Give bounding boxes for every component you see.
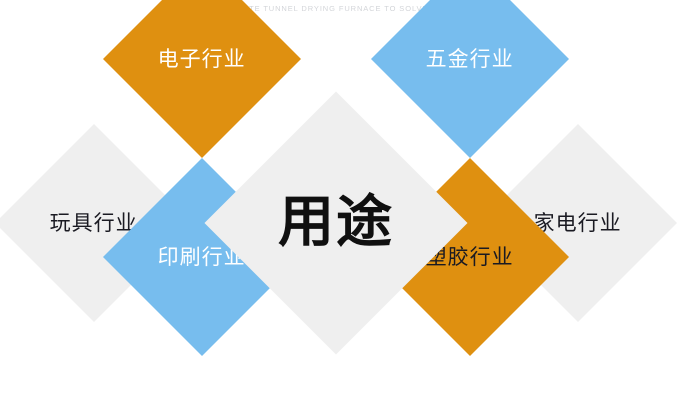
diamond-appliance-label: 家电行业 bbox=[534, 213, 622, 234]
header-tagline: ESCHAIN PLATE TUNNEL DRYING FURNACE TO S… bbox=[0, 4, 697, 13]
diamond-hardware-label: 五金行业 bbox=[426, 49, 514, 70]
diamond-center-usage: 用途 bbox=[204, 91, 467, 354]
diamond-electronics[interactable]: 电子行业 bbox=[103, 0, 301, 158]
diamond-electronics-label: 电子行业 bbox=[158, 49, 246, 70]
usage-diagram-canvas: ESCHAIN PLATE TUNNEL DRYING FURNACE TO S… bbox=[0, 0, 697, 414]
diamond-hardware[interactable]: 五金行业 bbox=[371, 0, 569, 158]
center-title: 用途 bbox=[278, 195, 394, 251]
header-bar: ESCHAIN PLATE TUNNEL DRYING FURNACE TO S… bbox=[0, 0, 697, 22]
diamond-toys-label: 玩具行业 bbox=[50, 213, 138, 234]
